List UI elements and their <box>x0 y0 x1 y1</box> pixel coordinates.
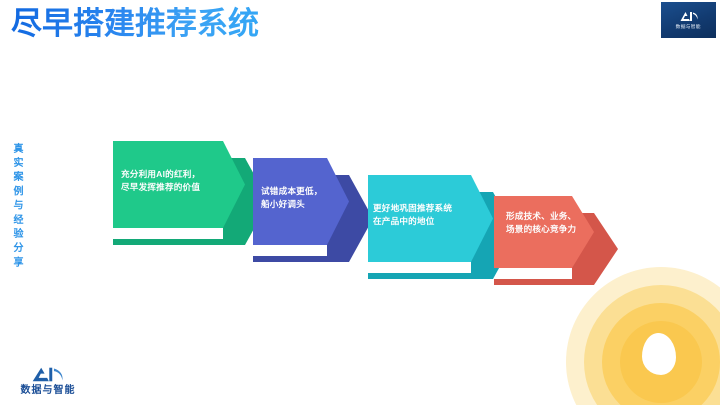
flow-step-2-label: 试错成本更低， 船小好调头 <box>261 185 323 210</box>
ai-monogram-icon <box>679 10 699 23</box>
page-title: 尽早搭建推荐系统 <box>11 4 259 44</box>
flow-step-1-label: 充分利用AI的红利， 尽早发挥推荐的价值 <box>121 168 200 193</box>
flow-step-1[interactable]: 充分利用AI的红利， 尽早发挥推荐的价值 <box>113 141 269 245</box>
chevron-flow: 充分利用AI的红利， 尽早发挥推荐的价值试错成本更低， 船小好调头更好地巩固推荐… <box>0 0 720 405</box>
yellow-concentric-rings-decoration <box>566 267 720 405</box>
ai-monogram-icon <box>31 365 65 384</box>
flow-step-2[interactable]: 试错成本更低， 船小好调头 <box>253 158 373 262</box>
slide-canvas: 尽早搭建推荐系统 数据与智能 真实案例与经验分享 充分利用AI的红利， 尽早发挥… <box>0 0 720 405</box>
brand-text: 数据与智能 <box>21 384 76 397</box>
logo-badge-text: 数据与智能 <box>676 24 701 30</box>
logo-badge: 数据与智能 <box>661 2 716 38</box>
flow-step-3-label: 更好地巩固推荐系统 在产品中的地位 <box>373 202 452 227</box>
section-side-label: 真实案例与经验分享 <box>7 143 23 271</box>
flow-step-4[interactable]: 形成技术、业务、 场景的核心竞争力 <box>494 196 618 285</box>
ring-center-dot <box>642 333 676 375</box>
ring-mid <box>584 285 720 405</box>
ring-inner <box>602 303 720 405</box>
ring-core <box>620 321 702 403</box>
ring-outer <box>566 267 720 405</box>
brand-logo: 数据与智能 <box>11 365 85 397</box>
flow-step-4-label: 形成技术、业务、 场景的核心竞争力 <box>506 210 576 235</box>
